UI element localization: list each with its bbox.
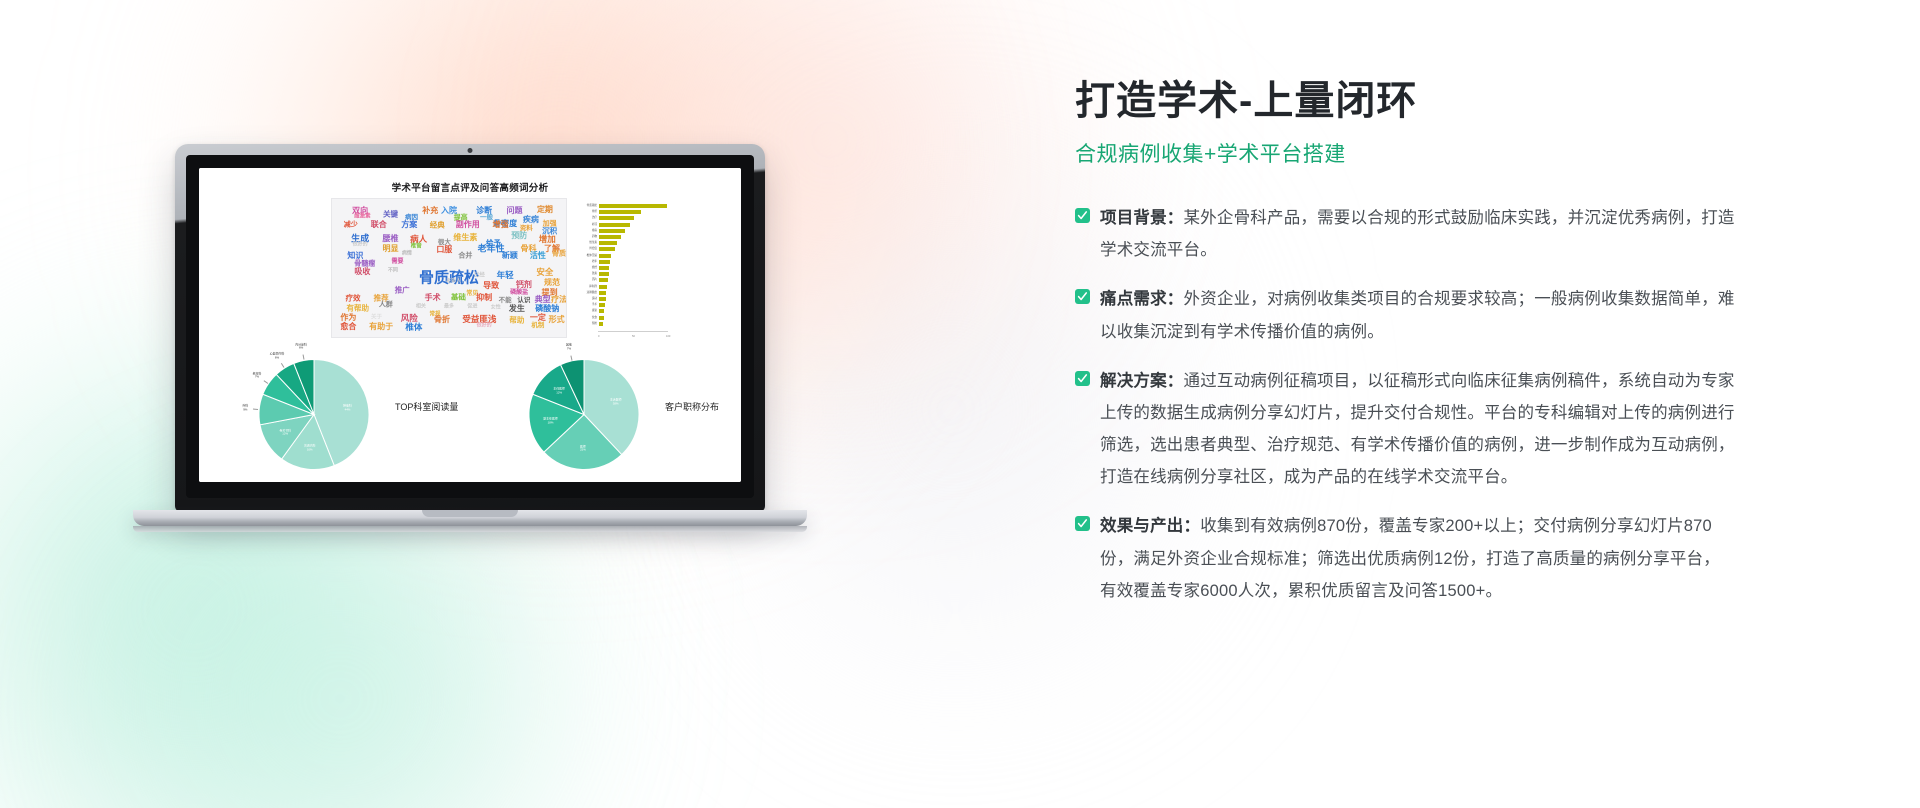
dashboard: 学术平台留言点评及问答高频词分析 骨质疏松入院诊断问题定期疾病加强双向关键补充提…	[199, 168, 741, 482]
wordcloud-word: 疗效	[346, 295, 361, 303]
wordcloud-word: 预防	[511, 232, 527, 240]
wordcloud-word: 已经	[474, 274, 485, 280]
page-subtitle: 合规病例收集+学术平台搭建	[1075, 138, 1735, 168]
wordcloud-word: 定期	[537, 206, 553, 214]
bar-label: 骨折	[577, 209, 597, 213]
highlight-label: 效果与产出：	[1100, 517, 1200, 535]
wordcloud-word: 很好的	[477, 323, 492, 328]
bar	[599, 303, 605, 307]
wordcloud-word: 规范	[544, 279, 560, 287]
wordcloud-word: 认识	[517, 298, 530, 305]
bar-label: 维生素	[577, 240, 597, 244]
wordcloud-word: 作为	[340, 314, 356, 322]
bar-label: 抑制剂	[577, 284, 597, 288]
wordcloud-word: 不同	[388, 268, 398, 273]
wordcloud-word: 补充	[422, 207, 438, 215]
wordcloud-word: 老年性	[478, 244, 505, 253]
wordcloud-word: 典型	[535, 296, 551, 304]
wordcloud-word: 相关	[416, 304, 426, 309]
bar	[599, 297, 606, 301]
highlight-item: 项目背景：某外企骨科产品，需要以合规的形式鼓励临床实践，并沉淀优秀病例，打造学术…	[1075, 202, 1735, 266]
highlight-label: 项目背景：	[1100, 209, 1184, 227]
wordcloud-word: 疾病	[523, 216, 539, 224]
highlight-label: 解决方案：	[1100, 372, 1184, 390]
bar-label: 老年	[577, 259, 597, 263]
wordcloud-word: 病人	[410, 235, 427, 244]
wordcloud-word: 联合	[371, 221, 387, 229]
page-title: 打造学术-上量闭环	[1075, 78, 1735, 124]
wordcloud-word: 关键	[383, 210, 398, 218]
bar	[599, 216, 634, 220]
pie-slice-label: 主任医师12%	[553, 388, 565, 395]
laptop-mockup: 学术平台留言点评及问答高频词分析 骨质疏松入院诊断问题定期疾病加强双向关键补充提…	[175, 144, 765, 548]
pie-slice-label: 主治医师38%	[610, 398, 622, 405]
wordcloud-word: 病情	[402, 252, 412, 257]
wordcloud-word: 问题	[507, 207, 523, 215]
wordcloud-word: 增加	[539, 235, 556, 244]
bar-label: 康复	[577, 308, 597, 312]
wordcloud-word: 合并	[458, 252, 472, 259]
wordcloud-word: 雌激素	[354, 214, 371, 220]
bar	[599, 204, 667, 208]
pie-slice-label: 老年科7%	[253, 372, 262, 379]
bar	[599, 291, 606, 295]
bar-chart-axis	[598, 331, 668, 332]
bar-label: 激素	[577, 271, 597, 275]
wordcloud-word: 机制	[531, 323, 544, 330]
bar-axis-tick: 100	[666, 335, 670, 338]
bar-label: 绝经	[577, 265, 597, 269]
bar-label: 骨密度	[577, 246, 597, 250]
wordcloud-word: 基础	[451, 293, 466, 301]
wordcloud-word: 副作用	[456, 221, 480, 229]
wordcloud-word: 一般	[480, 215, 493, 222]
bar	[599, 272, 609, 276]
wordcloud-word: 风险	[401, 313, 418, 322]
pie-svg	[499, 346, 669, 471]
bar	[599, 285, 607, 289]
wordcloud-word: 女性	[491, 306, 501, 311]
wordcloud-word: 活性	[530, 252, 546, 260]
wordcloud-word: 经典	[430, 221, 445, 229]
laptop-bezel: 学术平台留言点评及问答高频词分析 骨质疏松入院诊断问题定期疾病加强双向关键补充提…	[186, 155, 754, 498]
wordcloud-word: 钙剂	[516, 281, 532, 289]
wordcloud-word: 帮助	[509, 317, 524, 325]
highlight-body: 某外企骨科产品，需要以合规的形式鼓励临床实践，并沉淀优秀病例，打造学术交流平台。	[1100, 209, 1735, 259]
check-icon	[1075, 208, 1090, 223]
bar-label: 饮食	[577, 315, 597, 319]
pie-chart-titles-caption: 客户职称分布	[665, 400, 719, 413]
highlights-list: 项目背景：某外企骨科产品，需要以合规的形式鼓励临床实践，并沉淀优秀病例，打造学术…	[1075, 202, 1735, 607]
horizontal-bar-chart: 骨质疏松骨折治疗补钙疼痛药物维生素骨密度椎体压缩老年绝经激素钙片抑制剂双磷酸盐运…	[577, 198, 669, 338]
wordcloud-word: 形式	[549, 316, 565, 324]
wordcloud-word: 最多	[444, 304, 454, 309]
highlight-body: 外资企业，对病例收集类项目的合规要求较高；一般病例收集数据简单，难以收集沉淀到有…	[1100, 290, 1735, 340]
dashboard-title: 学术平台留言点评及问答高频词分析	[199, 180, 741, 194]
bar-label: 手术	[577, 302, 597, 306]
content-panel: 打造学术-上量闭环 合规病例收集+学术平台搭建 项目背景：某外企骨科产品，需要以…	[1075, 78, 1735, 624]
wordcloud-word: 有助于	[369, 323, 393, 331]
highlight-body: 通过互动病例征稿项目，以征稿形式向临床征集病例稿件，系统自动为专家上传的数据生成…	[1100, 372, 1735, 487]
wordcloud-word: 口服	[436, 246, 452, 254]
wordcloud-word: 很好的	[353, 242, 368, 247]
pie-chart-departments: 肿瘤科44%普通内科16%骨关节科12%外科9%老年科7%心血管内科6%内分泌科…	[229, 346, 399, 471]
bar-label: 双磷酸盐	[577, 290, 597, 294]
bar	[599, 260, 610, 264]
bar	[599, 229, 625, 233]
wordcloud-word: 愈合	[340, 323, 356, 331]
wordcloud-word: 需要	[392, 259, 404, 265]
bar-label: 运动	[577, 296, 597, 300]
highlight-text: 项目背景：某外企骨科产品，需要以合规的形式鼓励临床实践，并沉淀优秀病例，打造学术…	[1100, 202, 1735, 266]
pie-slice-label: 其他7%	[566, 344, 572, 351]
wordcloud-word: 骨质	[552, 251, 566, 258]
bar	[599, 235, 621, 239]
bar	[599, 309, 604, 313]
wordcloud-word: 关于	[371, 315, 382, 321]
wordcloud-word: 推广	[395, 286, 410, 294]
bar-label: 骨质疏松	[577, 203, 597, 207]
check-icon	[1075, 516, 1090, 531]
wordcloud-word: 新颖	[502, 252, 518, 260]
laptop-foot	[133, 526, 807, 532]
wordcloud-word: 维生素	[453, 234, 477, 242]
bar	[599, 210, 641, 214]
bar-axis-tick: 50	[632, 335, 635, 338]
bar	[599, 316, 604, 320]
bar-label: 治疗	[577, 215, 597, 219]
highlight-item: 效果与产出：收集到有效病例870份，覆盖专家200+以上；交付病例分享幻灯片87…	[1075, 510, 1735, 607]
pie-slice-label: 医师25%	[580, 445, 586, 452]
check-icon	[1075, 289, 1090, 304]
highlight-text: 解决方案：通过互动病例征稿项目，以征稿形式向临床征集病例稿件，系统自动为专家上传…	[1100, 365, 1735, 494]
wordcloud-word: 人群	[379, 302, 393, 309]
background-wash-mint-2	[60, 520, 620, 808]
wordcloud-word: 促进	[467, 304, 477, 309]
wordcloud-word: 安全	[536, 268, 553, 277]
wordcloud-chart: 骨质疏松入院诊断问题定期疾病加强双向关键补充提高一般骨密度病因雌激素减少联合方案…	[331, 198, 567, 338]
wordcloud-word: 年轻	[497, 271, 514, 280]
wordcloud-word: 不能	[499, 298, 512, 305]
bar	[599, 241, 617, 245]
bar-label: 疼痛	[577, 228, 597, 232]
bar	[599, 322, 603, 326]
wordcloud-word: 骨折	[434, 316, 450, 324]
pie-slice-label: 内分泌科6%	[295, 343, 307, 350]
pie-slice-label: 肿瘤科44%	[343, 404, 352, 411]
wordcloud-word: 椎体	[405, 323, 422, 332]
laptop-lid: 学术平台留言点评及问答高频词分析 骨质疏松入院诊断问题定期疾病加强双向关键补充提…	[175, 144, 765, 512]
wordcloud-word: 明显	[383, 245, 399, 253]
bar	[599, 254, 611, 258]
wordcloud-word: 疗法	[551, 296, 567, 304]
wordcloud-word: 导致	[483, 282, 499, 290]
highlight-label: 痛点需求：	[1100, 290, 1184, 308]
laptop-screen: 学术平台留言点评及问答高频词分析 骨质疏松入院诊断问题定期疾病加强双向关键补充提…	[199, 168, 741, 482]
wordcloud-word: 一定	[530, 314, 546, 322]
wordcloud-word: 吸收	[354, 268, 370, 276]
bar	[599, 278, 608, 282]
bar	[599, 223, 630, 227]
wordcloud-word: 腰椎	[383, 235, 399, 243]
wordcloud-word: 方案	[401, 221, 417, 229]
bar-label: 药物	[577, 234, 597, 238]
wordcloud-word: 知识	[347, 252, 363, 260]
pie-slice-label: 骨关节科12%	[279, 429, 291, 436]
bar-label: 预防	[577, 321, 597, 325]
page-background: 学术平台留言点评及问答高频词分析 骨质疏松入院诊断问题定期疾病加强双向关键补充提…	[0, 0, 1920, 808]
laptop-base	[133, 510, 807, 526]
wordcloud-word: 抑制	[476, 294, 492, 302]
check-icon	[1075, 371, 1090, 386]
pie-slice-label: 外科9%	[242, 404, 248, 411]
wordcloud-word: 手术	[425, 294, 441, 302]
highlight-item: 解决方案：通过互动病例征稿项目，以征稿形式向临床征集病例稿件，系统自动为专家上传…	[1075, 365, 1735, 494]
wordcloud-word: 有帮助	[346, 304, 369, 312]
bar-label: 补钙	[577, 222, 597, 226]
bar	[599, 266, 609, 270]
pie-slice-label: 普通内科16%	[304, 445, 316, 452]
bar-label: 钙片	[577, 277, 597, 281]
pie-slice-label: 副主任医师18%	[543, 417, 557, 424]
wordcloud-word: 发生	[509, 305, 525, 313]
wordcloud-word: 增强	[492, 221, 508, 229]
wordcloud-word: 磷酸盐	[510, 290, 528, 296]
bar-axis-tick: 0	[598, 335, 599, 338]
wordcloud-word: 减少	[344, 222, 358, 229]
highlight-item: 痛点需求：外资企业，对病例收集类项目的合规要求较高；一般病例收集数据简单，难以收…	[1075, 283, 1735, 347]
wordcloud-word: 老年人	[446, 279, 461, 284]
wordcloud-word: 椎管	[411, 245, 422, 251]
bar	[599, 247, 615, 251]
highlight-text: 痛点需求：外资企业，对病例收集类项目的合规要求较高；一般病例收集数据简单，难以收…	[1100, 283, 1735, 347]
pie-chart-titles: 主治医师38%医师25%副主任医师18%主任医师12%其他7%	[499, 346, 669, 471]
bar-label: 椎体压缩	[577, 253, 597, 257]
highlight-text: 效果与产出：收集到有效病例870份，覆盖专家200+以上；交付病例分享幻灯片87…	[1100, 510, 1735, 607]
pie-chart-departments-caption: TOP科室阅读量	[395, 400, 458, 413]
pie-slice-label: 心血管内科6%	[270, 353, 284, 360]
